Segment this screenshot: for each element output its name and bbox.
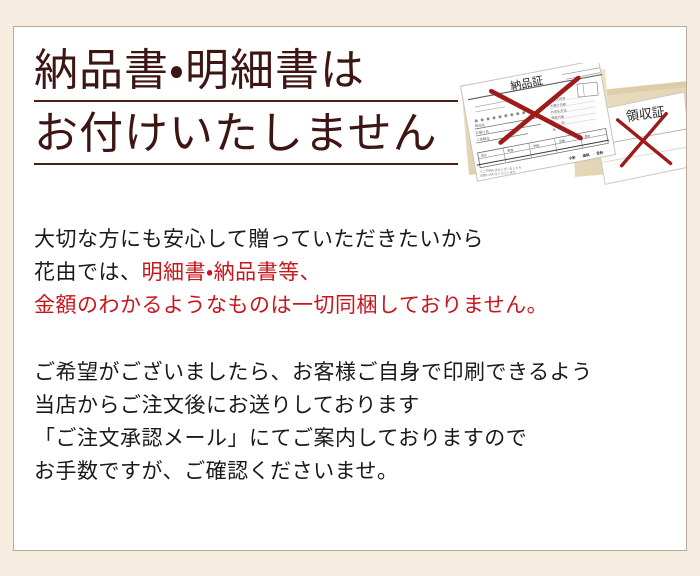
svg-text:小計: 小計	[567, 155, 576, 161]
page-title: 納品書・明細書は お付けいたしません	[34, 45, 464, 171]
svg-text:品名: 品名	[481, 152, 488, 158]
svg-text:金額: 金額	[559, 138, 566, 144]
headline-line-2: お付けいたしません	[34, 108, 458, 165]
content-panel: 納品書・明細書は お付けいたしません	[13, 26, 687, 551]
svg-text:備考: 備考	[584, 133, 591, 139]
paragraph-no-invoice: 大切な方にも安心して贈っていただきたいから 花由では、明細書・納品書等、 金額の…	[34, 223, 674, 322]
paragraph-print-instructions: ご希望がございましたら、お客様ご自身で印刷できるよう 当店からご注文後にお送りし…	[34, 356, 674, 488]
copy-line-1: 大切な方にも安心して贈っていただきたいから	[34, 223, 674, 256]
copy-line-2: 花由では、明細書・納品書等、	[34, 256, 674, 289]
copy-line-4: ご希望がございましたら、お客様ご自身で印刷できるよう	[34, 356, 674, 389]
copy-line-2-red: 明細書・納品書等、	[142, 261, 322, 284]
copy-line-5: 当店からご注文後にお送りしております	[34, 389, 674, 422]
copy-line-6: 「ご注文承認メール」にてご案内しておりますので	[34, 422, 674, 455]
banner-stage: 納品書・明細書は お付けいたしません	[0, 0, 700, 576]
svg-text:送料: 送料	[582, 152, 590, 158]
svg-text:単価: 単価	[533, 142, 540, 148]
documents-photo: ¥ 領収証 納品証	[455, 63, 687, 197]
copy-line-7: お手数ですが、ご確認くださいませ。	[34, 455, 674, 488]
headline-line-1: 納品書・明細書は	[34, 45, 458, 102]
svg-text:数量: 数量	[507, 147, 514, 153]
body-copy: 大切な方にも安心して贈っていただきたいから 花由では、明細書・納品書等、 金額の…	[34, 223, 674, 488]
copy-line-3: 金額のわかるようなものは一切同梱しておりません。	[34, 289, 674, 322]
copy-line-2-black: 花由では、	[34, 261, 142, 284]
svg-text:合計: 合計	[595, 150, 604, 156]
